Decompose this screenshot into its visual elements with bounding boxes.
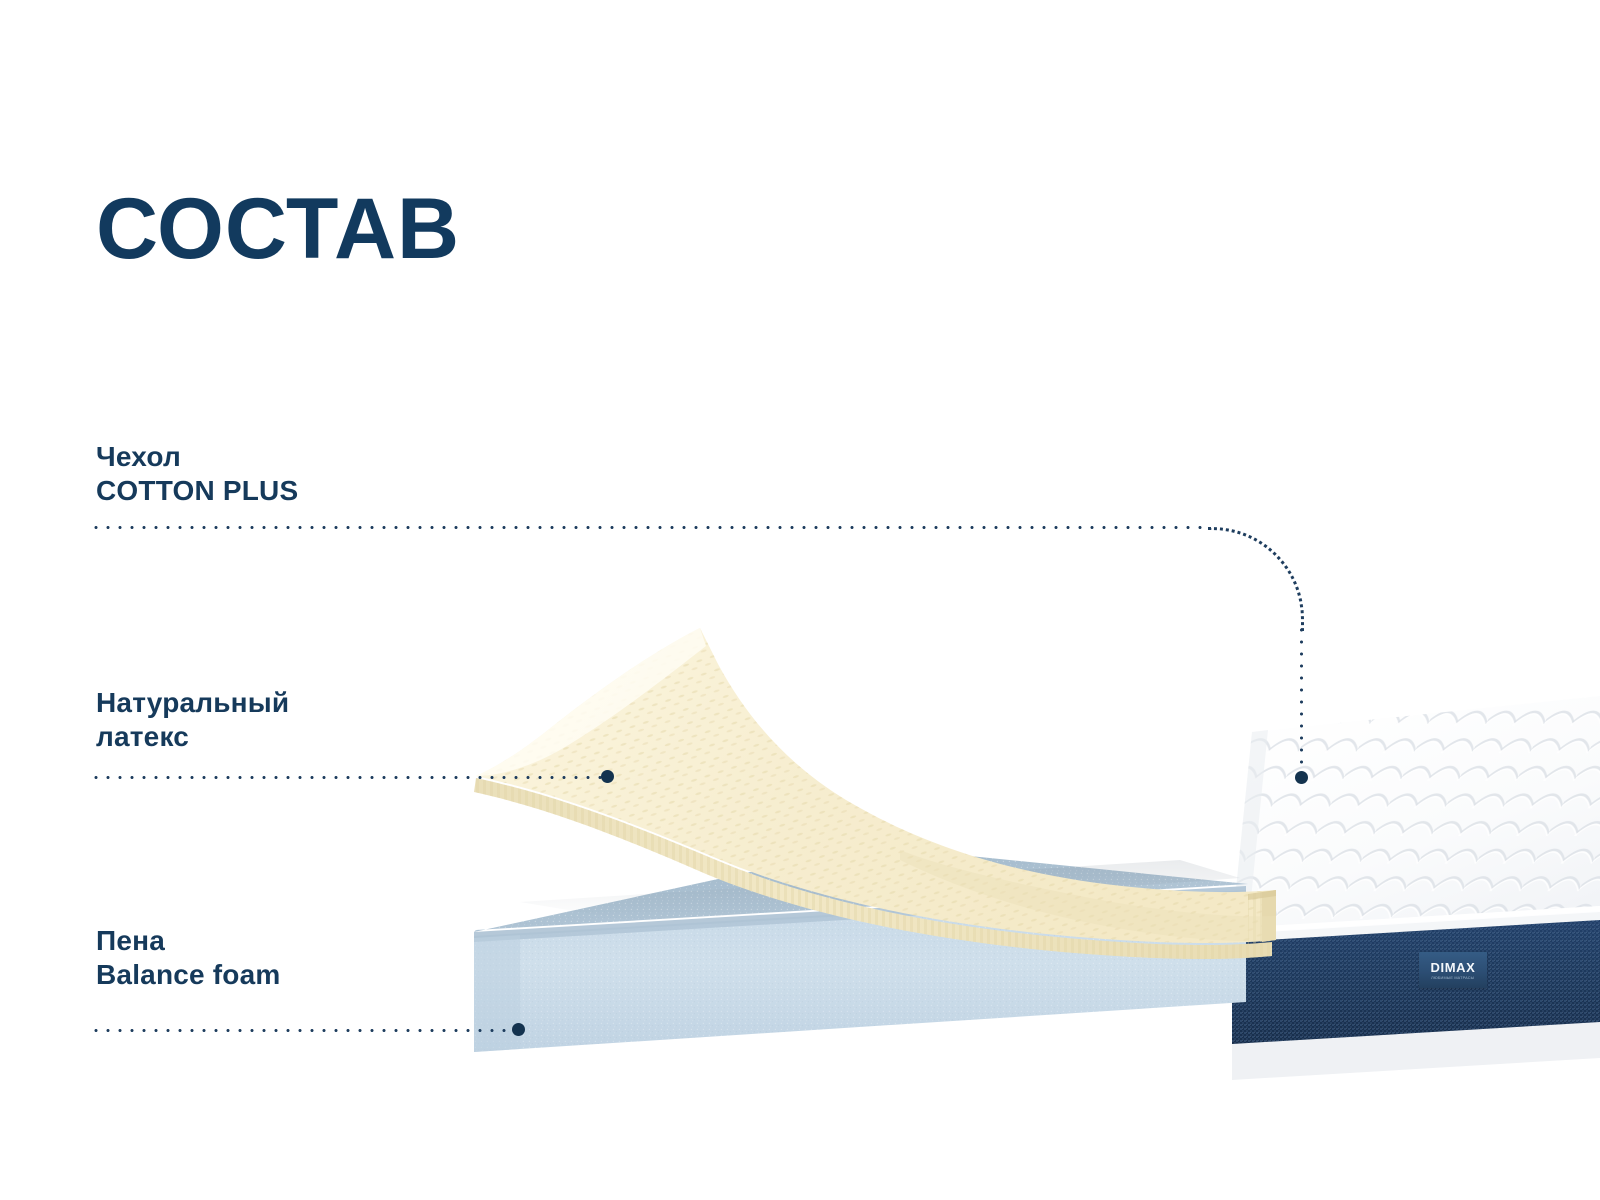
- leader-line-latex: [90, 776, 610, 779]
- brand-tag-subtitle: ЛЮБИМЫЕ МАТРАСЫ: [1431, 976, 1474, 980]
- leader-line-foam: [90, 1029, 522, 1032]
- layer-label-foam-line2: Balance foam: [96, 958, 280, 992]
- layer-label-foam-line1: Пена: [96, 924, 280, 958]
- leader-line-cover-vertical: [1300, 624, 1303, 780]
- layer-label-foam: Пена Balance foam: [96, 924, 280, 992]
- mattress-svg: [0, 560, 1600, 1100]
- slide-canvas: СОСТАВ: [0, 0, 1600, 1200]
- dot-marker-icon-latex: [601, 770, 614, 783]
- page-title: СОСТАВ: [96, 186, 460, 272]
- leader-line-cover-curve: [1208, 527, 1304, 631]
- dot-marker-icon-foam: [512, 1023, 525, 1036]
- layer-label-cover-line1: Чехол: [96, 440, 298, 474]
- layer-label-cover-line2: COTTON PLUS: [96, 474, 298, 508]
- dot-marker-icon-cover: [1295, 771, 1308, 784]
- mattress-cover-top: [1232, 696, 1600, 934]
- layer-label-latex-line2: латекс: [96, 720, 289, 754]
- layer-label-cover: Чехол COTTON PLUS: [96, 440, 298, 508]
- brand-tag: DIMAX ЛЮБИМЫЕ МАТРАСЫ: [1419, 952, 1487, 988]
- leader-line-cover: [90, 526, 1210, 529]
- mattress-exploded-illustration: [0, 560, 1600, 1100]
- layer-label-latex-line1: Натуральный: [96, 686, 289, 720]
- brand-tag-name: DIMAX: [1431, 961, 1476, 974]
- layer-label-latex: Натуральный латекс: [96, 686, 289, 754]
